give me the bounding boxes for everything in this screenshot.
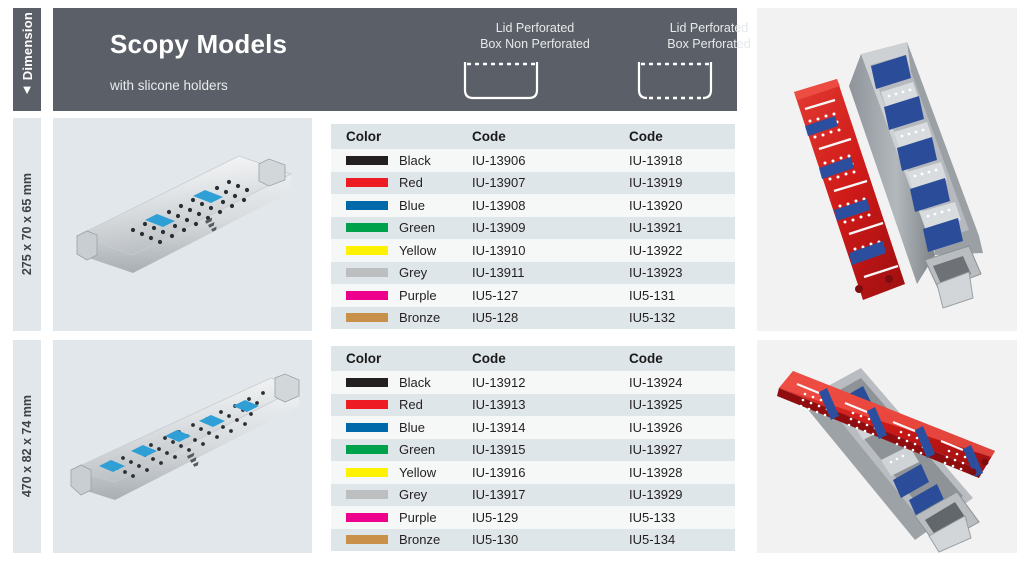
color-name: Purple xyxy=(399,510,437,525)
code-cell-1: IU5-128 xyxy=(472,310,629,325)
color-name: Green xyxy=(399,220,435,235)
table-row[interactable]: Red IU-13907 IU-13919 xyxy=(331,172,735,195)
code-cell-2: IU-13929 xyxy=(629,487,735,502)
code-cell-1: IU5-127 xyxy=(472,288,629,303)
dimension-label-text-2: 470 x 82 x 74 mm xyxy=(20,395,34,497)
color-swatch xyxy=(346,201,388,210)
table-row[interactable]: Bronze IU5-128 IU5-132 xyxy=(331,307,735,330)
color-swatch xyxy=(346,246,388,255)
code-cell-1: IU5-130 xyxy=(472,532,629,547)
scopy-model-small-photo xyxy=(53,118,312,331)
color-swatch xyxy=(346,400,388,409)
table-row[interactable]: Purple IU5-129 IU5-133 xyxy=(331,506,735,529)
dimension-tab-label: Dimension xyxy=(20,12,35,80)
color-name: Bronze xyxy=(399,310,440,325)
col-header-code-2: Code xyxy=(629,351,735,366)
col-header-code-1: Code xyxy=(472,129,629,144)
color-name: Purple xyxy=(399,288,437,303)
code-cell-2: IU-13922 xyxy=(629,243,735,258)
dimension-label-section-1: 275 x 70 x 65 mm xyxy=(13,118,41,331)
col-header-color: Color xyxy=(331,351,472,366)
color-name: Blue xyxy=(399,198,425,213)
table-row[interactable]: Grey IU-13917 IU-13929 xyxy=(331,484,735,507)
code-cell-2: IU-13920 xyxy=(629,198,735,213)
color-name: Red xyxy=(399,175,423,190)
color-swatch xyxy=(346,490,388,499)
color-swatch xyxy=(346,423,388,432)
table-row[interactable]: Green IU-13909 IU-13921 xyxy=(331,217,735,240)
color-swatch xyxy=(346,378,388,387)
page-title: Scopy Models xyxy=(110,29,287,60)
color-swatch xyxy=(346,291,388,300)
page-subtitle: with slicone holders xyxy=(110,78,228,93)
table-row[interactable]: Grey IU-13911 IU-13923 xyxy=(331,262,735,285)
table-row[interactable]: Black IU-13906 IU-13918 xyxy=(331,149,735,172)
color-name: Black xyxy=(399,153,431,168)
product-table-section-1: Color Code Code Black IU-13906 IU-13918 … xyxy=(331,124,735,329)
legend-lid-perforated-box-non-perforated: Lid Perforated Box Non Perforated xyxy=(455,20,615,102)
product-table-section-2: Color Code Code Black IU-13912 IU-13924 … xyxy=(331,346,735,551)
color-name: Black xyxy=(399,375,431,390)
code-cell-1: IU-13917 xyxy=(472,487,629,502)
legend-line-2: Box Non Perforated xyxy=(455,36,615,52)
table-header-row: Color Code Code xyxy=(331,124,735,149)
code-cell-2: IU-13926 xyxy=(629,420,735,435)
table-row[interactable]: Black IU-13912 IU-13924 xyxy=(331,371,735,394)
color-name: Yellow xyxy=(399,465,436,480)
code-cell-1: IU-13911 xyxy=(472,265,629,280)
color-name: Yellow xyxy=(399,243,436,258)
dimension-tab[interactable]: Dimension ▼ xyxy=(13,8,41,111)
code-cell-1: IU5-129 xyxy=(472,510,629,525)
catalog-page: Dimension ▼ Scopy Models with slicone ho… xyxy=(0,0,1024,561)
color-swatch xyxy=(346,535,388,544)
code-cell-2: IU-13927 xyxy=(629,442,735,457)
table-row[interactable]: Yellow IU-13916 IU-13928 xyxy=(331,461,735,484)
color-name: Grey xyxy=(399,265,427,280)
color-name: Blue xyxy=(399,420,425,435)
table-row[interactable]: Yellow IU-13910 IU-13922 xyxy=(331,239,735,262)
code-cell-2: IU5-131 xyxy=(629,288,735,303)
color-swatch xyxy=(346,468,388,477)
code-cell-2: IU-13919 xyxy=(629,175,735,190)
code-cell-2: IU-13924 xyxy=(629,375,735,390)
scopy-tray-red-lid-open-photo xyxy=(757,340,1017,553)
table-row[interactable]: Blue IU-13908 IU-13920 xyxy=(331,194,735,217)
code-cell-2: IU-13925 xyxy=(629,397,735,412)
code-cell-2: IU-13923 xyxy=(629,265,735,280)
code-cell-1: IU-13908 xyxy=(472,198,629,213)
code-cell-2: IU5-134 xyxy=(629,532,735,547)
color-swatch xyxy=(346,268,388,277)
code-cell-1: IU-13910 xyxy=(472,243,629,258)
col-header-code-2: Code xyxy=(629,129,735,144)
code-cell-2: IU5-133 xyxy=(629,510,735,525)
table-row[interactable]: Purple IU5-127 IU5-131 xyxy=(331,284,735,307)
color-swatch xyxy=(346,513,388,522)
code-cell-2: IU-13928 xyxy=(629,465,735,480)
code-cell-1: IU-13906 xyxy=(472,153,629,168)
code-cell-1: IU-13915 xyxy=(472,442,629,457)
table-header-row: Color Code Code xyxy=(331,346,735,371)
code-cell-1: IU-13907 xyxy=(472,175,629,190)
color-name: Grey xyxy=(399,487,427,502)
code-cell-1: IU-13912 xyxy=(472,375,629,390)
code-cell-1: IU-13914 xyxy=(472,420,629,435)
box-lid-perforated-icon xyxy=(455,58,615,102)
dimension-label-section-2: 470 x 82 x 74 mm xyxy=(13,340,41,553)
table-row[interactable]: Red IU-13913 IU-13925 xyxy=(331,394,735,417)
code-cell-1: IU-13909 xyxy=(472,220,629,235)
legend-line-1: Lid Perforated xyxy=(455,20,615,36)
chevron-down-icon: ▼ xyxy=(21,83,34,96)
color-swatch xyxy=(346,445,388,454)
color-name: Green xyxy=(399,442,435,457)
color-swatch xyxy=(346,313,388,322)
dimension-label-text-1: 275 x 70 x 65 mm xyxy=(20,173,34,275)
scopy-model-large-photo xyxy=(53,340,312,553)
color-swatch xyxy=(346,156,388,165)
color-swatch xyxy=(346,178,388,187)
table-row[interactable]: Green IU-13915 IU-13927 xyxy=(331,439,735,462)
scopy-tray-red-and-grey-photo xyxy=(757,8,1017,331)
table-row[interactable]: Blue IU-13914 IU-13926 xyxy=(331,416,735,439)
code-cell-2: IU5-132 xyxy=(629,310,735,325)
header-banner: Scopy Models with slicone holders Lid Pe… xyxy=(53,8,737,111)
code-cell-2: IU-13918 xyxy=(629,153,735,168)
code-cell-2: IU-13921 xyxy=(629,220,735,235)
code-cell-1: IU-13913 xyxy=(472,397,629,412)
color-swatch xyxy=(346,223,388,232)
col-header-color: Color xyxy=(331,129,472,144)
code-cell-1: IU-13916 xyxy=(472,465,629,480)
col-header-code-1: Code xyxy=(472,351,629,366)
color-name: Red xyxy=(399,397,423,412)
table-row[interactable]: Bronze IU5-130 IU5-134 xyxy=(331,529,735,552)
color-name: Bronze xyxy=(399,532,440,547)
